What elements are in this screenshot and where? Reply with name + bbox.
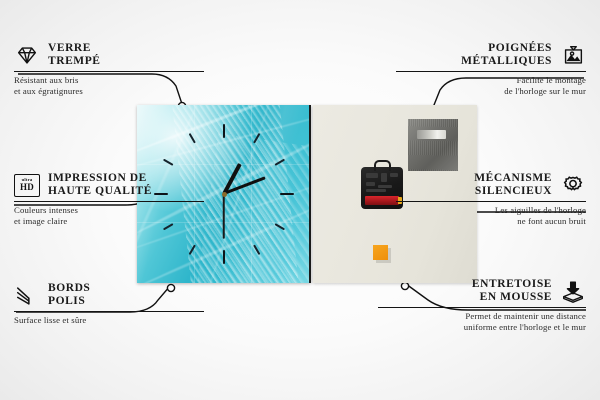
clock-center-cap xyxy=(222,192,227,197)
callout-description: Facilite le montagede l'horloge sur le m… xyxy=(396,75,586,96)
callout-verre-trempe: VERRETREMPÉ Résistant aux briset aux égr… xyxy=(14,42,204,96)
callout-divider xyxy=(396,71,586,72)
product-infographic: VERRETREMPÉ Résistant aux briset aux égr… xyxy=(0,0,600,400)
hanger-slot xyxy=(417,130,446,139)
callout-header: VERRETREMPÉ xyxy=(14,42,204,68)
callout-header: ENTRETOISEEN MOUSSE xyxy=(378,278,586,304)
callout-divider xyxy=(14,201,204,202)
callout-divider xyxy=(396,201,586,202)
metal-hanger-plate xyxy=(408,119,458,171)
picture-frame-hanger-icon xyxy=(560,44,586,67)
polished-edges-icon xyxy=(14,284,40,307)
mechanism-hanging-loop xyxy=(374,160,391,171)
callout-header: ultra HD IMPRESSION DEHAUTE QUALITÉ xyxy=(14,172,204,198)
gear-icon xyxy=(560,174,586,197)
callout-title: IMPRESSION DEHAUTE QUALITÉ xyxy=(48,172,152,198)
foam-spacer xyxy=(373,245,388,260)
callout-entretoise-en-mousse: ENTRETOISEEN MOUSSE Permet de maintenir … xyxy=(378,278,586,332)
callout-divider xyxy=(14,71,204,72)
callout-description: Permet de maintenir une distanceuniforme… xyxy=(378,311,586,332)
callout-title: ENTRETOISEEN MOUSSE xyxy=(472,278,552,304)
ultra-hd-bottom-text: HD xyxy=(20,183,34,192)
callout-title: POIGNÉESMÉTALLIQUES xyxy=(461,42,552,68)
callout-header: MÉCANISMESILENCIEUX xyxy=(396,172,586,198)
callout-title: MÉCANISMESILENCIEUX xyxy=(474,172,552,198)
clock-tick xyxy=(223,250,225,264)
callout-description: Les aiguilles de l'horlogene font aucun … xyxy=(396,205,586,226)
callout-description: Couleurs intenseset image claire xyxy=(14,205,204,226)
callout-description: Résistant aux briset aux égratignures xyxy=(14,75,204,96)
callout-divider xyxy=(378,307,586,308)
callout-poignees-metalliques: POIGNÉESMÉTALLIQUES Facilite le montaged… xyxy=(396,42,586,96)
callout-bords-polis: BORDSPOLIS Surface lisse et sûre xyxy=(14,282,204,326)
clock-tick xyxy=(280,193,294,195)
ultra-hd-icon: ultra HD xyxy=(14,174,40,197)
callout-divider xyxy=(14,311,204,312)
diamond-icon xyxy=(14,44,40,67)
clock-tick xyxy=(223,124,225,138)
callout-title: BORDSPOLIS xyxy=(48,282,90,308)
foam-spacer-arrow-icon xyxy=(560,280,586,303)
callout-header: POIGNÉESMÉTALLIQUES xyxy=(396,42,586,68)
callout-header: BORDSPOLIS xyxy=(14,282,204,308)
battery xyxy=(365,196,399,205)
callout-impression-haute-qualite: ultra HD IMPRESSION DEHAUTE QUALITÉ Coul… xyxy=(14,172,204,226)
clock-hand-second xyxy=(223,193,225,239)
callout-mecanisme-silencieux: MÉCANISMESILENCIEUX Les aiguilles de l'h… xyxy=(396,172,586,226)
callout-description: Surface lisse et sûre xyxy=(14,315,204,326)
callout-title: VERRETREMPÉ xyxy=(48,42,101,68)
